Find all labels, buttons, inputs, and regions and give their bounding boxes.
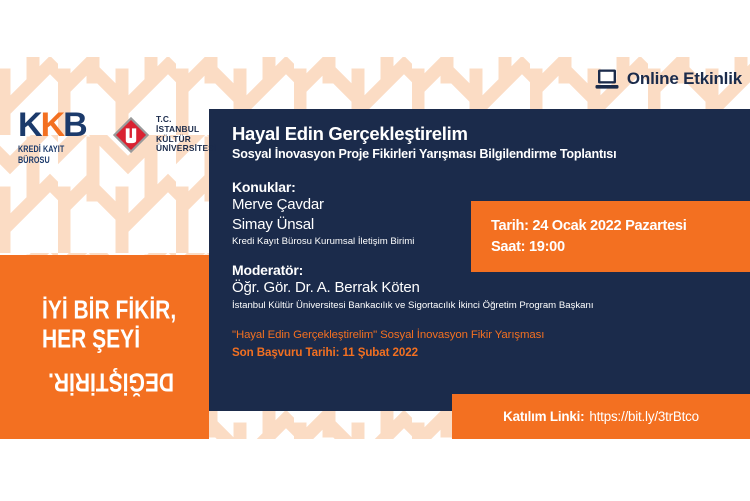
event-title: Hayal Edin Gerçekleştirelim: [232, 123, 740, 145]
iku-logo: T.C. İSTANBUL KÜLTÜR ÜNİVERSİTESİ: [112, 115, 217, 153]
join-link-url[interactable]: https://bit.ly/3trBtco: [589, 409, 698, 424]
online-event-label: Online Etkinlik: [627, 69, 742, 89]
laptop-icon: [595, 68, 619, 90]
kkb-logo: KKB KREDİ KAYIT BÜROSU: [18, 108, 98, 161]
competition-name: "Hayal Edin Gerçekleştirelim" Sosyal İno…: [232, 328, 740, 343]
guests-label: Konuklar:: [232, 179, 740, 195]
online-event-badge: Online Etkinlik: [595, 68, 742, 90]
slogan-text: İYİ BİR FİKİR, HER ŞEYİ DEĞİŞTİRİR.: [42, 293, 209, 396]
join-link-label: Katılım Linki:: [503, 409, 584, 424]
iku-diamond-icon: [112, 116, 150, 154]
kkb-letter-k1: K: [18, 106, 41, 144]
moderator-name: Öğr. Gör. Dr. A. Berrak Köten: [232, 278, 740, 298]
kkb-letter-k2: K: [41, 106, 64, 144]
slogan-line-2: HER ŞEYİ: [42, 322, 209, 357]
date-time-box: Tarih: 24 Ocak 2022 Pazartesi Saat: 19:0…: [471, 201, 750, 272]
iku-wordmark: T.C. İSTANBUL KÜLTÜR ÜNİVERSİTESİ: [156, 115, 217, 153]
deadline-note: "Hayal Edin Gerçekleştirelim" Sosyal İno…: [232, 328, 740, 360]
event-time: Saat: 19:00: [491, 237, 750, 258]
slogan-line-3: DEĞİŞTİRİR.: [48, 364, 174, 399]
kkb-subtitle: KREDİ KAYIT BÜROSU: [18, 143, 98, 166]
kkb-wordmark: KKB: [18, 108, 98, 142]
event-date: Tarih: 24 Ocak 2022 Pazartesi: [491, 216, 750, 237]
logo-row: KKB KREDİ KAYIT BÜROSU T.C. İSTANBUL KÜL…: [18, 108, 217, 161]
iku-line-universitesi: ÜNİVERSİTESİ: [156, 144, 217, 154]
join-link-bar[interactable]: Katılım Linki: https://bit.ly/3trBtco: [452, 394, 750, 439]
kkb-letter-b: B: [63, 106, 86, 144]
application-deadline: Son Başvuru Tarihi: 11 Şubat 2022: [232, 345, 740, 360]
slogan-panel: İYİ BİR FİKİR, HER ŞEYİ DEĞİŞTİRİR.: [0, 255, 209, 439]
event-subtitle: Sosyal İnovasyon Proje Fikirleri Yarışma…: [232, 146, 740, 162]
moderator-affiliation: İstanbul Kültür Üniversitesi Bankacılık …: [232, 299, 740, 312]
event-poster: Online Etkinlik KKB KREDİ KAYIT BÜROSU T…: [0, 0, 750, 501]
